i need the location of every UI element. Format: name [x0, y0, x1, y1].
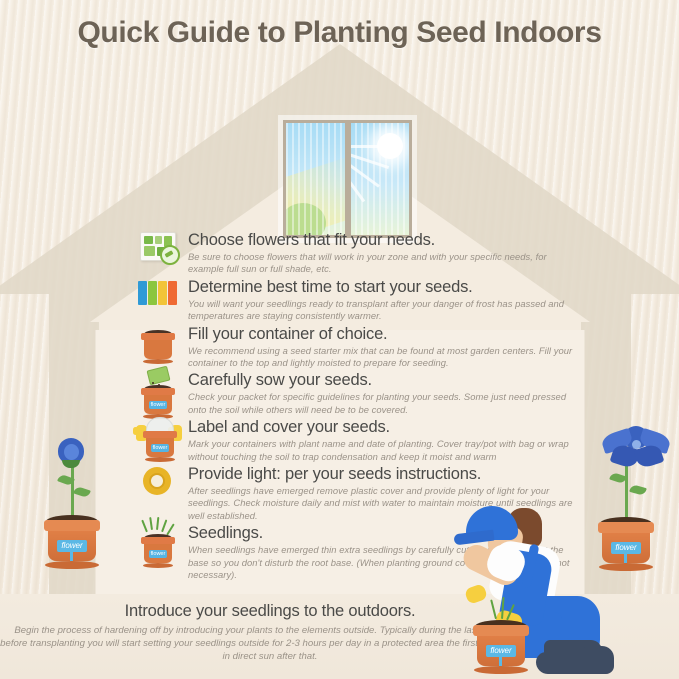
pot-rim	[141, 537, 175, 544]
page-title: Quick Guide to Planting Seed Indoors	[0, 16, 679, 50]
blinds-overlay	[349, 123, 409, 235]
step-item: Determine best time to start your seeds.…	[136, 277, 576, 323]
step-body: You will want your seedlings ready to tr…	[188, 298, 576, 323]
step-item: flower Label and cover your seeds. Mark …	[136, 417, 576, 463]
rose-inner-petal	[64, 444, 79, 460]
step-heading: Label and cover your seeds.	[188, 417, 576, 437]
flower-center	[632, 440, 641, 449]
blinds-overlay	[286, 123, 346, 235]
calendar-strips-shape	[138, 281, 180, 307]
step-heading: Provide light: per your seeds instructio…	[188, 464, 576, 484]
pot-rim	[44, 520, 100, 531]
filled-pot-icon	[136, 324, 182, 368]
window-pane-right	[349, 123, 409, 235]
step-heading: Determine best time to start your seeds.	[188, 277, 576, 297]
sun-light-icon	[136, 464, 182, 508]
seed-packet-sowing-icon: flower	[136, 370, 182, 414]
pot-rim	[141, 388, 175, 395]
plant-tag: flower	[151, 444, 169, 452]
plant-tag: flower	[486, 645, 516, 657]
leaf	[629, 484, 647, 496]
pot-saucer	[143, 563, 173, 568]
seed-catalog-magnifier-icon	[136, 230, 182, 274]
pot-rim	[141, 333, 175, 340]
window-illustration	[283, 120, 412, 238]
plant-tag: flower	[57, 540, 87, 552]
window-pane-left	[286, 123, 346, 235]
magnifier-icon	[160, 245, 180, 265]
pot-saucer	[145, 457, 175, 462]
step-item: Fill your container of choice. We recomm…	[136, 324, 576, 370]
sun-shape	[143, 467, 171, 495]
pot-rim	[473, 625, 529, 636]
plant-tag: flower	[149, 550, 167, 558]
pot-saucer	[45, 561, 99, 569]
step-body: We recommend using a seed starter mix th…	[188, 345, 576, 370]
step-heading: Fill your container of choice.	[188, 324, 576, 344]
step-body: Be sure to choose flowers that will work…	[188, 251, 576, 276]
step-heading: Carefully sow your seeds.	[188, 370, 576, 390]
plant-tag: flower	[149, 401, 167, 409]
gardener-glove	[464, 583, 488, 605]
pot-saucer	[474, 666, 528, 674]
infographic-poster: Quick Guide to Planting Seed Indoors	[0, 0, 679, 679]
step-body: Mark your containers with plant name and…	[188, 438, 576, 463]
pot-rim	[143, 431, 177, 438]
pot-body	[144, 340, 172, 359]
gloves-covered-pot-icon: flower	[136, 417, 182, 461]
step-body: Check your packet for specific guideline…	[188, 391, 576, 416]
lily-bloom	[602, 426, 672, 470]
calendar-strips-icon	[136, 277, 182, 321]
gardener-boot	[580, 646, 614, 674]
window-mullion	[345, 123, 351, 235]
pot-saucer	[143, 359, 173, 364]
seedlings-pot-icon: flower	[136, 523, 182, 567]
seed-packet-shape	[146, 366, 170, 386]
step-item: flower Carefully sow your seeds. Check y…	[136, 370, 576, 416]
step-heading: Choose flowers that fit your needs.	[188, 230, 576, 250]
step-item: Choose flowers that fit your needs. Be s…	[136, 230, 576, 276]
